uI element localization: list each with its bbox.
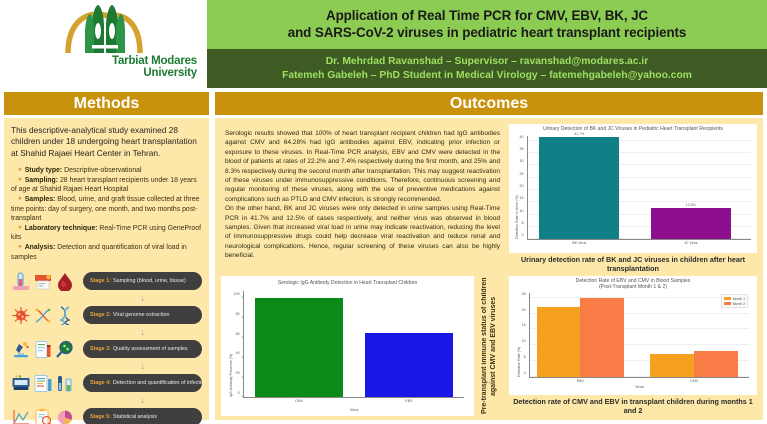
chart-blood-ytick: 15 [522, 323, 526, 327]
dna-helix-icon [55, 306, 75, 325]
outcomes-paragraph-2: On the other hand, BK and JC viruses wer… [225, 204, 500, 260]
chart-blood-xaxis-name: Virus [530, 384, 749, 389]
poster-title-line1: Application of Real Time PCR for CMV, EB… [326, 8, 648, 25]
arrow-down-icon: ↓ [83, 293, 202, 303]
bullet-icon: ⚬ [17, 225, 23, 232]
workflow-stage-row: Stage 2: Viral genome extraction [11, 304, 202, 326]
test-tube-icon [11, 272, 31, 291]
chart-blood-ytick: 0 [524, 371, 526, 375]
lab-report-icon [33, 340, 53, 359]
bar-jc-virus: 12.5% [651, 208, 731, 239]
legend-swatch-icon [724, 302, 731, 305]
methods-intro: This descriptive-analytical study examin… [11, 125, 202, 159]
bar-cmv-month2 [694, 351, 738, 377]
workflow-stage-icons [11, 306, 83, 325]
outcomes-bottom-row: Serologic IgG Antibody Detection in Hear… [221, 276, 757, 416]
chart-serologic-ytick: 20 [236, 371, 240, 375]
bar-value-label: 41.7% [574, 132, 584, 136]
methods-item-label: Study type: [25, 167, 63, 174]
virus-icon [11, 306, 31, 325]
chart-urinary-xlabel-jc: JC Virus [684, 241, 698, 245]
header-text-area: Application of Real Time PCR for CMV, EB… [207, 0, 767, 88]
workflow-stage-text: Viral genome extraction [113, 312, 170, 318]
chart-serologic-title: Serologic IgG Antibody Detection in Hear… [221, 280, 474, 286]
chart-serologic-xlabel-ebv: EBV [405, 399, 412, 403]
graph-icon [11, 408, 31, 424]
workflow-stage-pill: Stage 4: Detection and quantification of… [83, 374, 202, 392]
methods-workflow-diagram: Stage 1: Sampling (blood, urine, tissue)… [11, 270, 202, 424]
workflow-stage-pill: Stage 1: Sampling (blood, urine, tissue) [83, 272, 202, 290]
methods-item: ⚬ Sampling: 28 heart transplant recipien… [11, 176, 202, 195]
methods-item-label: Sampling: [25, 177, 58, 184]
chart-urinary-title: Urinary Detection of BK and JC Viruses i… [509, 126, 757, 132]
chart-urinary-ytick: 5 [522, 221, 524, 225]
chart-urinary-xlabel-bk: BK Virus [572, 241, 586, 245]
university-name-line2: University [143, 67, 197, 79]
chart-blood-plot-area: Detection Rate of EBV and CMV in Blood S… [509, 276, 757, 395]
chart-serologic-ytick: 100 [234, 292, 240, 296]
chart-urinary-bk-jc: Urinary Detection of BK and JC Viruses i… [509, 124, 757, 274]
methods-item-label: Laboratory technique: [25, 225, 98, 232]
chart-serologic-axes: IgG Antibody Presence (%) 0 20 40 60 80 … [243, 291, 464, 398]
chart-blood-ytick: 25 [522, 292, 526, 296]
outcomes-side-note: Pre-transplant immune status of children… [474, 276, 504, 416]
workflow-stage-text: Statistical analysis [113, 414, 157, 420]
chart-serologic-igg-wrap: Serologic IgG Antibody Detection in Hear… [221, 276, 504, 416]
section-heading-bars: Methods Outcomes [0, 88, 767, 115]
author-line-supervisor: Dr. Mehrdad Ravanshad – Supervisor – rav… [326, 55, 649, 69]
chart-blood-ylabel: Detection Rate (%) [517, 347, 521, 377]
chart-blood-xlabel-cmv: CMV [690, 379, 698, 383]
chart-urinary-ytick: 35 [520, 147, 524, 151]
workflow-stage-icons [11, 340, 83, 359]
chart-urinary-axes: Detection Rate in Urine (%) 0 5 [527, 136, 751, 240]
chart-urinary-ylabel: Detection Rate in Urine (%) [515, 195, 519, 239]
chart-urinary-ytick: 25 [520, 172, 524, 176]
chart-blood-ebv-cmv: Detection Rate of EBV and CMV in Blood S… [509, 276, 757, 416]
chart-serologic-xaxis-name: Virus [244, 407, 464, 412]
workflow-arrow: ↓ [11, 361, 202, 371]
workflow-stage-text: Quality assessment of samples [113, 346, 188, 352]
chart-blood-ytick: 10 [522, 339, 526, 343]
pipette-icon [55, 374, 75, 393]
microscope-icon [11, 340, 31, 359]
outcomes-top-row: Serologic results showed that 100% of he… [221, 124, 757, 274]
bar-ebv-month1 [537, 307, 581, 377]
ytick-mark [242, 376, 244, 377]
ytick-mark [242, 356, 244, 357]
workflow-stage-icons [11, 408, 83, 424]
chart-blood-ytick: 20 [522, 308, 526, 312]
methods-item-label: Samples: [25, 196, 56, 203]
chart-serologic-ytick: 0 [238, 391, 240, 395]
chart-blood-caption: Detection rate of CMV and EBV in transpl… [509, 395, 757, 416]
workflow-stage-icons [11, 374, 83, 393]
bar-value-label: 12.5% [686, 203, 696, 207]
workflow-stage-number: Stage 3: [90, 346, 111, 352]
chart-urinary-ytick: 0 [522, 233, 524, 237]
poster-header: Tarbiat Modares University Application o… [0, 0, 767, 88]
chart-blood-title-line2: (Post-Transplant Month 1 & 2) [509, 284, 757, 290]
ytick-mark [242, 337, 244, 338]
workflow-stage-text: Detection and quantification of infectio… [113, 380, 202, 386]
legend-item-month1: Month 1 [724, 297, 745, 301]
methods-item: ⚬ Laboratory technique: Real-Time PCR us… [11, 224, 202, 243]
chart-urinary-ytick: 40 [520, 135, 524, 139]
methods-bullet-list: ⚬ Study type: Descriptive-observational … [11, 166, 202, 262]
workflow-stage-row: Stage 5: Statistical analysis [11, 406, 202, 424]
bar-cmv-month1 [650, 354, 694, 377]
workflow-stage-pill: Stage 2: Viral genome extraction [83, 306, 202, 324]
ytick-mark [242, 317, 244, 318]
outcomes-panel: Serologic results showed that 100% of he… [215, 118, 763, 420]
bar-ebv-month2 [580, 298, 624, 377]
chart-urinary-caption: Urinary detection rate of BK and JC viru… [509, 253, 757, 274]
workflow-stage-number: Stage 1: [90, 278, 111, 284]
chart-blood-axes: Detection Rate (%) 0 5 10 15 20 [529, 293, 749, 378]
ytick-mark [242, 396, 244, 397]
poster-body: This descriptive-analytical study examin… [0, 115, 767, 424]
outcomes-heading: Outcomes [215, 92, 763, 115]
workflow-stage-number: Stage 2: [90, 312, 111, 318]
methods-item-text: Descriptive-observational [64, 167, 141, 174]
methods-item-label: Analysis: [25, 244, 56, 251]
pcr-chart-icon [33, 374, 53, 393]
poster-title-line2: and SARS-CoV-2 viruses in pediatric hear… [288, 25, 687, 42]
clipboard-analysis-icon [33, 408, 53, 424]
bullet-icon: ⚬ [17, 167, 23, 174]
bar-ebv-igg [365, 333, 453, 397]
poster-root: Tarbiat Modares University Application o… [0, 0, 767, 424]
chart-serologic-ytick: 60 [236, 332, 240, 336]
legend-label: Month 1 [733, 297, 745, 301]
legend-item-month2: Month 2 [724, 302, 745, 306]
legend-label: Month 2 [733, 302, 745, 306]
arrow-down-icon: ↓ [83, 361, 202, 371]
chart-urinary-ytick: 20 [520, 184, 524, 188]
chart-urinary-ytick: 10 [520, 209, 524, 213]
workflow-stage-number: Stage 5: [90, 414, 111, 420]
poster-authors: Dr. Mehrdad Ravanshad – Supervisor – rav… [207, 49, 767, 88]
workflow-stage-pill: Stage 3: Quality assessment of samples [83, 340, 202, 358]
gridline [530, 297, 749, 298]
ytick-mark [242, 297, 244, 298]
workflow-stage-icons [11, 272, 83, 291]
poster-title: Application of Real Time PCR for CMV, EB… [207, 0, 767, 49]
methods-item: ⚬ Samples: Blood, urine, and graft tissu… [11, 195, 202, 224]
bullet-icon: ⚬ [17, 196, 23, 203]
university-logo: Tarbiat Modares University [0, 0, 207, 88]
outcomes-text: Serologic results showed that 100% of he… [221, 124, 504, 274]
workflow-stage-row: Stage 3: Quality assessment of samples [11, 338, 202, 360]
chart-blood-xlabel-ebv: EBV [577, 379, 584, 383]
chart-blood-ytick: 5 [524, 355, 526, 359]
chart-urinary-ytick: 15 [520, 196, 524, 200]
chart-serologic-ylabel: IgG Antibody Presence (%) [229, 354, 233, 397]
chart-serologic-ytick: 80 [236, 312, 240, 316]
bar-bk-virus: 41.7% [539, 137, 619, 239]
author-line-student: Fatemeh Gabeleh – PhD Student in Medical… [282, 69, 692, 83]
bullet-icon: ⚬ [17, 244, 23, 251]
methods-item: ⚬ Study type: Descriptive-observational [11, 166, 202, 176]
workflow-arrow: ↓ [11, 293, 202, 303]
pie-chart-icon [55, 408, 75, 424]
methods-panel: This descriptive-analytical study examin… [4, 118, 209, 420]
arrow-down-icon: ↓ [83, 327, 202, 337]
chart-serologic-igg: Serologic IgG Antibody Detection in Hear… [221, 276, 474, 416]
workflow-stage-row: Stage 4: Detection and quantification of… [11, 372, 202, 394]
legend-swatch-icon [724, 297, 731, 300]
outcomes-paragraph-1: Serologic results showed that 100% of he… [225, 129, 500, 204]
chart-blood-legend: Month 1 Month 2 [721, 294, 748, 308]
pcr-machine-icon [11, 374, 31, 393]
workflow-arrow: ↓ [11, 395, 202, 405]
chart-urinary-plot-area: Urinary Detection of BK and JC Viruses i… [509, 124, 757, 253]
methods-heading: Methods [4, 92, 209, 115]
magnifier-virus-icon [55, 340, 75, 359]
workflow-stage-row: Stage 1: Sampling (blood, urine, tissue) [11, 270, 202, 292]
tarbiat-modares-logo-icon [62, 3, 146, 55]
chart-urinary-ytick: 30 [520, 159, 524, 163]
workflow-stage-number: Stage 4: [90, 380, 111, 386]
chart-serologic-xlabel-cmv: CMV [295, 399, 303, 403]
dna-extraction-icon [33, 306, 53, 325]
methods-item: ⚬ Analysis: Detection and quantification… [11, 243, 202, 262]
workflow-stage-pill: Stage 5: Statistical analysis [83, 408, 202, 424]
arrow-down-icon: ↓ [83, 395, 202, 405]
workflow-stage-text: Sampling (blood, urine, tissue) [113, 278, 186, 284]
workflow-arrow: ↓ [11, 327, 202, 337]
university-name: Tarbiat Modares University [0, 56, 207, 79]
sample-container-icon [33, 272, 53, 291]
chart-serologic-ytick: 40 [236, 351, 240, 355]
university-name-line1: Tarbiat Modares [112, 55, 197, 67]
bullet-icon: ⚬ [17, 177, 23, 184]
blood-drop-icon [55, 272, 75, 291]
bar-cmv-igg [255, 298, 343, 397]
